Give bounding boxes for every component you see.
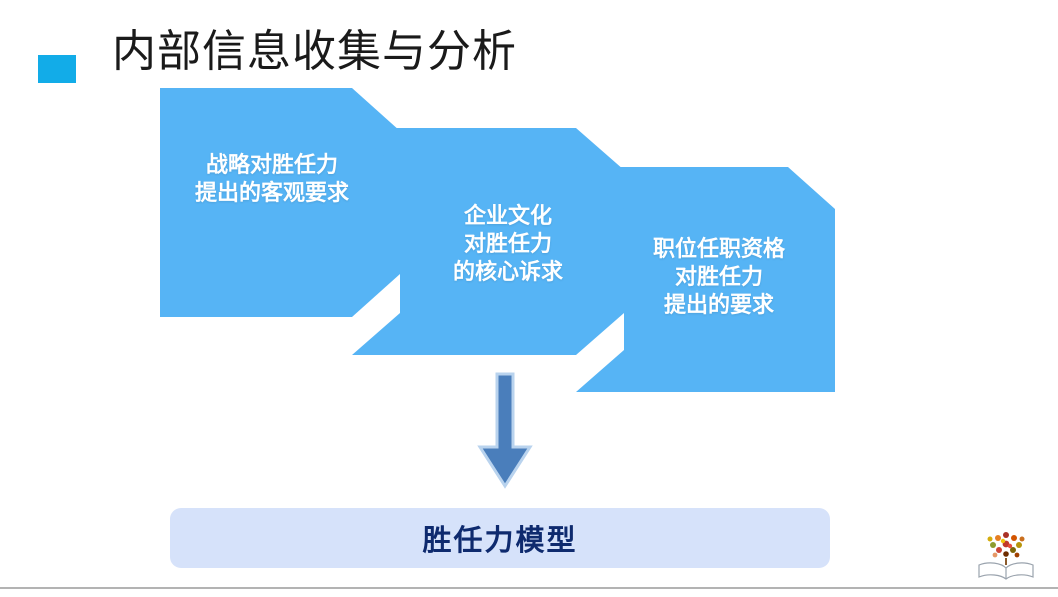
tree-book-logo-icon (979, 532, 1033, 579)
chevron-label-1-line-1: 战略对胜任力 (166, 152, 378, 180)
chevron-label-2-line-1: 企业文化 (424, 203, 592, 231)
chevron-label-3-line-3: 提出的要求 (620, 292, 818, 320)
footer-divider (0, 587, 1058, 589)
chevron-label-2-line-3: 的核心诉求 (424, 259, 592, 287)
chevron-label-1-line-2: 提出的客观要求 (166, 180, 378, 208)
result-label: 胜任力模型 (422, 517, 577, 559)
slide-title-row: 内部信息收集与分析 (0, 14, 1058, 76)
chevron-label-3: 职位任职资格 对胜任力 提出的要求 (620, 236, 818, 320)
page-title: 内部信息收集与分析 (112, 24, 517, 80)
chevron-label-3-line-2: 对胜任力 (620, 264, 818, 292)
chevron-label-3-line-1: 职位任职资格 (620, 236, 818, 264)
down-arrow (474, 372, 536, 490)
chevron-label-1: 战略对胜任力 提出的客观要求 (166, 152, 378, 208)
chevron-label-2: 企业文化 对胜任力 的核心诉求 (424, 203, 592, 287)
result-box: 胜任力模型 (170, 508, 830, 568)
title-bullet-square (38, 55, 76, 83)
down-arrow-icon (480, 374, 530, 486)
chevron-label-2-line-2: 对胜任力 (424, 231, 592, 259)
slide-canvas: 内部信息收集与分析 战略对胜任力 提出的客观要求 企业文化 对胜任力 的核心诉求… (0, 0, 1058, 597)
tree-book-logo (975, 527, 1037, 583)
